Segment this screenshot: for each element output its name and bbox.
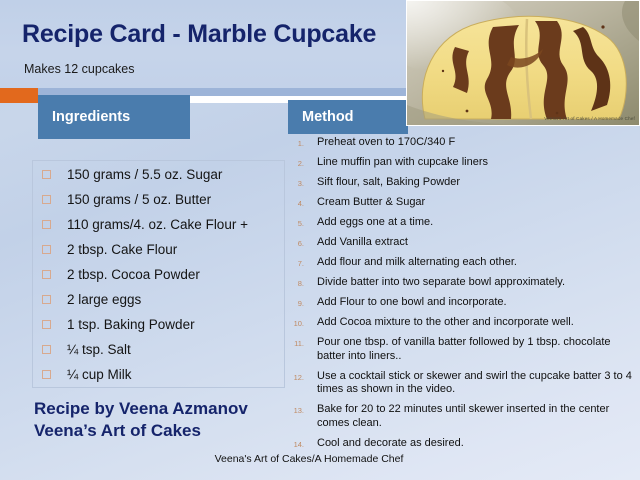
ingredient-label: 150 grams / 5.5 oz. Sugar [67,167,222,182]
method-step-number: 3. [286,176,307,188]
photo-watermark: Veena's Art of Cakes / A Homemade Chef [544,116,635,121]
ingredient-label: 2 large eggs [67,292,141,307]
ingredient-item: 150 grams / 5.5 oz. Sugar [34,162,292,187]
ingredient-label: 110 grams/4. oz. Cake Flour + [67,217,248,232]
ingredient-label: 2 tbsp. Cocoa Powder [67,267,200,282]
orange-accent-bar [0,88,38,103]
method-step: 5.Add eggs one at a time. [286,216,638,230]
method-step-number: 13. [286,403,307,415]
method-step-text: Divide batter into two separate bowl app… [307,276,638,290]
method-step: 8.Divide batter into two separate bowl a… [286,276,638,290]
method-step-text: Add Vanilla extract [307,236,638,250]
method-step-text: Sift flour, salt, Baking Powder [307,176,638,190]
subtitle-yield: Makes 12 cupcakes [24,62,134,76]
method-step: 7.Add flour and milk alternating each ot… [286,256,638,270]
page-title: Recipe Card - Marble Cupcake [22,20,376,49]
marble-cupcake-photo: Veena's Art of Cakes / A Homemade Chef [406,0,640,126]
section-header-ingredients: Ingredients [38,95,190,139]
method-step-number: 4. [286,196,307,208]
checkbox-bullet-icon [42,245,51,254]
section-header-ingredients-label: Ingredients [52,109,130,125]
ingredient-label: 1 tsp. Baking Powder [67,317,195,332]
ingredient-label: ¼ cup Milk [67,367,132,382]
section-header-method: Method [288,100,408,134]
method-step: 1.Preheat oven to 170C/340 F [286,136,638,150]
ingredient-item: ¼ cup Milk [34,362,292,387]
recipe-card-slide: Recipe Card - Marble Cupcake Makes 12 cu… [0,0,640,480]
footer-attribution: Veena's Art of Cakes/A Homemade Chef [0,453,640,465]
ingredient-item: 1 tsp. Baking Powder [34,312,292,337]
method-step: 9.Add Flour to one bowl and incorporate. [286,296,638,310]
marble-cupcake-illustration [407,1,639,125]
recipe-credit-line2: Veena’s Art of Cakes [34,420,248,442]
ingredient-label: ¼ tsp. Salt [67,342,131,357]
method-step: 3.Sift flour, salt, Baking Powder [286,176,638,190]
method-step: 4.Cream Butter & Sugar [286,196,638,210]
checkbox-bullet-icon [42,270,51,279]
method-step-number: 11. [286,336,307,348]
method-list: 1.Preheat oven to 170C/340 F2.Line muffi… [286,136,638,457]
method-step-text: Use a cocktail stick or skewer and swirl… [307,370,638,397]
method-step-text: Pour one tbsp. of vanilla batter followe… [307,336,638,363]
method-step-text: Cool and decorate as desired. [307,437,638,451]
method-step: 14.Cool and decorate as desired. [286,437,638,451]
checkbox-bullet-icon [42,345,51,354]
recipe-credit-line1: Recipe by Veena Azmanov [34,398,248,420]
ingredient-item: 2 large eggs [34,287,292,312]
checkbox-bullet-icon [42,170,51,179]
ingredient-label: 2 tbsp. Cake Flour [67,242,177,257]
footer-attribution-text: Veena's Art of Cakes/A Homemade Chef [215,453,426,465]
method-step-number: 12. [286,370,307,382]
ingredient-item: 2 tbsp. Cocoa Powder [34,262,292,287]
method-step-text: Add flour and milk alternating each othe… [307,256,638,270]
method-step-number: 2. [286,156,307,168]
recipe-credit: Recipe by Veena Azmanov Veena’s Art of C… [34,398,248,442]
ingredient-item: ¼ tsp. Salt [34,337,292,362]
method-step-number: 14. [286,437,307,449]
ingredients-list: 150 grams / 5.5 oz. Sugar150 grams / 5 o… [34,162,292,387]
method-step-text: Add Cocoa mixture to the other and incor… [307,316,638,330]
method-step-number: 10. [286,316,307,328]
method-step: 11.Pour one tbsp. of vanilla batter foll… [286,336,638,363]
method-step: 10.Add Cocoa mixture to the other and in… [286,316,638,330]
checkbox-bullet-icon [42,370,51,379]
method-step-number: 6. [286,236,307,248]
method-step-number: 7. [286,256,307,268]
ingredient-item: 2 tbsp. Cake Flour [34,237,292,262]
method-step-text: Preheat oven to 170C/340 F [307,136,638,150]
checkbox-bullet-icon [42,195,51,204]
method-step: 2.Line muffin pan with cupcake liners [286,156,638,170]
checkbox-bullet-icon [42,320,51,329]
method-step-text: Bake for 20 to 22 minutes until skewer i… [307,403,638,430]
method-step: 6.Add Vanilla extract [286,236,638,250]
checkbox-bullet-icon [42,220,51,229]
method-step-text: Add eggs one at a time. [307,216,638,230]
method-step-number: 9. [286,296,307,308]
checkbox-bullet-icon [42,295,51,304]
method-step: 13.Bake for 20 to 22 minutes until skewe… [286,403,638,430]
method-step-text: Line muffin pan with cupcake liners [307,156,638,170]
section-header-method-label: Method [302,109,354,125]
method-step-text: Add Flour to one bowl and incorporate. [307,296,638,310]
method-step-text: Cream Butter & Sugar [307,196,638,210]
ingredient-label: 150 grams / 5 oz. Butter [67,192,211,207]
method-step-number: 1. [286,136,307,148]
method-step-number: 8. [286,276,307,288]
ingredient-item: 110 grams/4. oz. Cake Flour + [34,212,292,237]
method-step-number: 5. [286,216,307,228]
ingredient-item: 150 grams / 5 oz. Butter [34,187,292,212]
method-step: 12. Use a cocktail stick or skewer and s… [286,370,638,397]
